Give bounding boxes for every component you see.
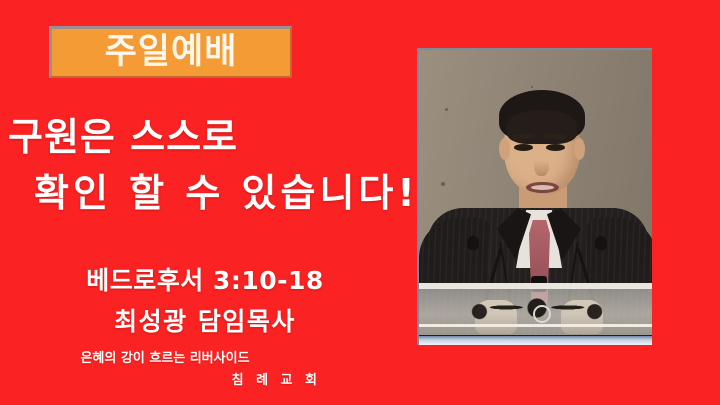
photo-hair [499, 90, 585, 142]
photo-ear-right [574, 138, 585, 160]
photo-nose [534, 150, 549, 176]
photo-mouth [526, 182, 559, 193]
photo-ear-left [499, 138, 510, 160]
scripture-and-preacher: 베드로후서 3:10-18 최성광 담임목사 [0, 268, 410, 334]
scripture-reference: 베드로후서 3:10-18 [0, 268, 410, 293]
photo-eye-left [514, 144, 533, 151]
microphone-icon-left [467, 236, 479, 250]
pulpit-ornament [441, 293, 633, 323]
church-name-line-2: 침 례 교 회 [0, 374, 330, 387]
pulpit-lower-edge [419, 324, 652, 327]
wall-speck-icon [441, 182, 445, 186]
preacher-photo [417, 48, 652, 345]
photo-pulpit [419, 283, 652, 335]
photo-bottom-strip [419, 336, 652, 345]
church-name-line-1: 은혜의 강이 흐르는 리버사이드 [0, 352, 330, 365]
preacher-name: 최성광 담임목사 [0, 309, 410, 334]
sermon-slide: 주일예배 구원은 스스로 확인 할 수 있습니다! 베드로후서 3:10-18 … [0, 0, 720, 405]
microphone-icon-right [595, 236, 607, 250]
category-banner-label: 주일예배 [105, 35, 238, 70]
wall-speck-icon [445, 108, 448, 111]
wall-speck-icon [531, 86, 533, 88]
sermon-title-line-1: 구원은 스스로 [0, 118, 420, 156]
photo-eye-right [546, 144, 565, 151]
sermon-title: 구원은 스스로 확인 할 수 있습니다! [0, 118, 420, 212]
sermon-title-line-2: 확인 할 수 있습니다! [0, 174, 420, 212]
church-name: 은혜의 강이 흐르는 리버사이드 침 례 교 회 [0, 352, 330, 387]
pulpit-top-edge [419, 283, 652, 289]
category-banner: 주일예배 [49, 26, 292, 78]
